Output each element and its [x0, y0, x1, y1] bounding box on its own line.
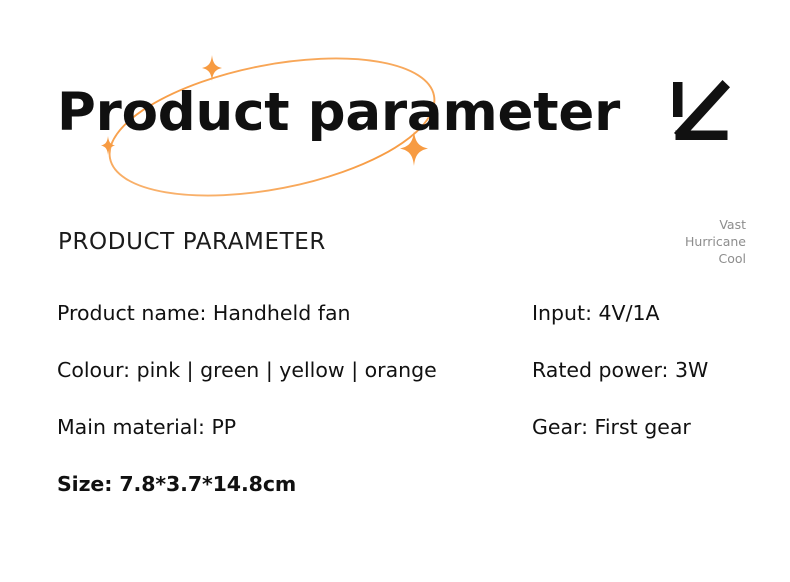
angle-arrow-logo-icon	[670, 80, 734, 144]
spec-row-input: Input: 4V/1A	[532, 300, 782, 357]
page-subtitle: PRODUCT PARAMETER	[58, 228, 326, 256]
spec-row-rated-power: Rated power: 3W	[532, 357, 782, 414]
specs-right-column: Input: 4V/1A Rated power: 3W Gear: First…	[532, 300, 782, 528]
logo-vertical-bar	[673, 82, 683, 117]
product-parameter-page: Product parameter PRODUCT PARAMETER Vast…	[0, 0, 790, 582]
specs-table: Product name: Handheld fan Colour: pink …	[0, 300, 790, 530]
sparkle-top-icon	[201, 55, 223, 81]
brand-tagline-line-2: Hurricane	[596, 233, 746, 250]
brand-tagline-line-3: Cool	[596, 250, 746, 267]
specs-left-column: Product name: Handheld fan Colour: pink …	[57, 300, 517, 528]
spec-row-product-name: Product name: Handheld fan	[57, 300, 517, 357]
spec-row-main-material: Main material: PP	[57, 414, 517, 471]
spec-row-size: Size: 7.8*3.7*14.8cm	[57, 471, 517, 528]
brand-tagline-line-1: Vast	[596, 216, 746, 233]
page-title: Product parameter	[57, 82, 620, 144]
brand-tagline: Vast Hurricane Cool	[596, 216, 746, 267]
spec-row-colour: Colour: pink | green | yellow | orange	[57, 357, 517, 414]
spec-row-gear: Gear: First gear	[532, 414, 782, 471]
